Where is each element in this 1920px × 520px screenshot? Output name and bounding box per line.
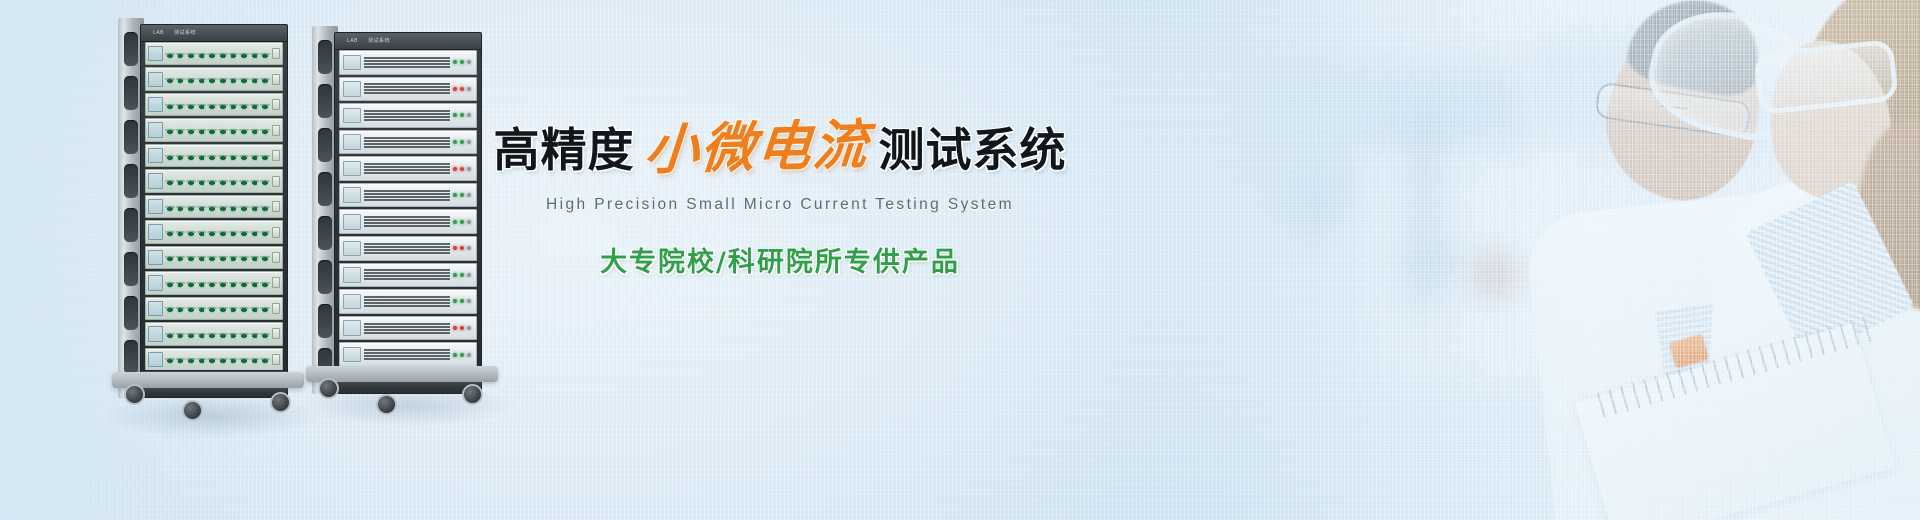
unit-channel xyxy=(197,307,207,309)
rack-caster xyxy=(376,394,397,415)
unit-channel xyxy=(218,78,228,80)
unit-channel xyxy=(250,206,260,208)
unit-slot xyxy=(364,143,450,145)
unit-slots xyxy=(364,241,450,255)
unit-display xyxy=(343,134,361,150)
unit-led-icon xyxy=(460,113,464,117)
unit-slot xyxy=(364,83,450,85)
unit-channels xyxy=(165,53,270,55)
unit-channel xyxy=(250,358,260,360)
unit-slot xyxy=(364,172,450,174)
unit-channel xyxy=(260,282,270,284)
unit-led-icon xyxy=(460,140,464,144)
unit-led-icon xyxy=(467,353,471,357)
unit-led-icon xyxy=(453,87,457,91)
unit-slots xyxy=(364,294,450,308)
unit-slot xyxy=(364,302,450,304)
unit-channels xyxy=(165,231,270,233)
unit-channel xyxy=(239,307,249,309)
unit-channel xyxy=(197,129,207,131)
rack-unit xyxy=(339,183,477,208)
unit-button xyxy=(272,252,280,263)
unit-display xyxy=(148,72,163,87)
rack-post-slot xyxy=(124,252,138,286)
rack-unit xyxy=(339,342,477,367)
unit-channel xyxy=(186,129,196,131)
unit-display xyxy=(148,250,163,265)
unit-slots xyxy=(364,268,450,282)
unit-channel xyxy=(176,358,186,360)
unit-channel xyxy=(229,282,239,284)
unit-display xyxy=(343,267,361,283)
unit-channel xyxy=(260,78,270,80)
unit-slot xyxy=(364,355,450,357)
unit-display xyxy=(148,326,163,341)
rack-unit xyxy=(145,42,283,65)
unit-led-icon xyxy=(467,273,471,277)
equipment-rack-white: LAB 测试系统 xyxy=(312,26,482,394)
rack-post-slot xyxy=(318,172,332,206)
unit-channel xyxy=(207,180,217,182)
unit-channel xyxy=(176,104,186,106)
rack-unit xyxy=(339,236,477,261)
rack-unit-list xyxy=(145,42,283,371)
unit-display xyxy=(148,199,163,214)
unit-indicator-group xyxy=(453,167,473,171)
unit-led-icon xyxy=(460,167,464,171)
rack-post-slot xyxy=(124,76,138,110)
headline-suffix: 测试系统 xyxy=(879,127,1067,173)
unit-channel xyxy=(186,155,196,157)
unit-channel xyxy=(165,333,175,335)
unit-slot xyxy=(364,89,450,91)
unit-channel xyxy=(250,231,260,233)
unit-led-icon xyxy=(460,87,464,91)
unit-button xyxy=(272,227,280,238)
unit-channel xyxy=(250,78,260,80)
unit-slot xyxy=(364,163,450,165)
unit-channel xyxy=(218,206,228,208)
unit-display xyxy=(343,214,361,230)
unit-slot xyxy=(364,113,450,115)
unit-channel xyxy=(229,129,239,131)
rack-unit xyxy=(339,316,477,341)
unit-slot xyxy=(364,66,450,68)
unit-channel xyxy=(197,358,207,360)
unit-channel xyxy=(207,256,217,258)
unit-channel xyxy=(260,307,270,309)
unit-channels xyxy=(165,307,270,309)
unit-led-icon xyxy=(467,220,471,224)
unit-channel xyxy=(197,206,207,208)
unit-display xyxy=(343,294,361,310)
unit-channel xyxy=(197,180,207,182)
unit-led-icon xyxy=(453,140,457,144)
unit-channel xyxy=(250,307,260,309)
unit-channel xyxy=(229,256,239,258)
unit-channel xyxy=(260,129,270,131)
unit-channel xyxy=(250,104,260,106)
unit-channel xyxy=(229,307,239,309)
unit-channel xyxy=(197,282,207,284)
unit-led-icon xyxy=(453,273,457,277)
rack-brand-right: 测试系统 xyxy=(174,31,196,36)
unit-channel xyxy=(186,206,196,208)
unit-channel xyxy=(197,333,207,335)
rack-caster xyxy=(124,384,145,405)
unit-led-icon xyxy=(467,60,471,64)
unit-button xyxy=(272,150,280,161)
unit-button xyxy=(272,354,280,365)
unit-channel xyxy=(165,78,175,80)
unit-button xyxy=(272,125,280,136)
rack-unit xyxy=(145,220,283,243)
unit-channel xyxy=(218,282,228,284)
unit-slot xyxy=(364,249,450,251)
rack-unit xyxy=(339,156,477,181)
unit-slot xyxy=(364,246,450,248)
unit-channel xyxy=(165,129,175,131)
unit-display xyxy=(148,97,163,112)
equipment-rack-green: LAB 测试系统 xyxy=(118,18,288,398)
unit-display xyxy=(343,81,361,97)
unit-channel xyxy=(197,53,207,55)
unit-slot xyxy=(364,140,450,142)
unit-channel xyxy=(165,180,175,182)
unit-led-icon xyxy=(467,140,471,144)
unit-channel xyxy=(260,155,270,157)
unit-slot xyxy=(364,358,450,360)
unit-slot xyxy=(364,326,450,328)
unit-channel xyxy=(165,155,175,157)
unit-channel xyxy=(239,256,249,258)
unit-slot xyxy=(364,225,450,227)
unit-slot xyxy=(364,349,450,351)
unit-channels xyxy=(165,78,270,80)
photo-texture xyxy=(1110,0,1920,520)
unit-channel xyxy=(260,231,270,233)
unit-button xyxy=(272,303,280,314)
unit-led-icon xyxy=(460,246,464,250)
unit-slot xyxy=(364,169,450,171)
unit-led-icon xyxy=(453,60,457,64)
unit-channel xyxy=(176,282,186,284)
unit-button xyxy=(272,74,280,85)
unit-channel xyxy=(239,282,249,284)
unit-slot xyxy=(364,63,450,65)
unit-slots xyxy=(364,161,450,175)
unit-slot xyxy=(364,252,450,254)
unit-channel xyxy=(229,231,239,233)
unit-channels xyxy=(165,104,270,106)
unit-led-icon xyxy=(460,353,464,357)
unit-channel xyxy=(176,78,186,80)
unit-button xyxy=(272,277,280,288)
unit-channel xyxy=(207,78,217,80)
unit-display xyxy=(148,46,163,61)
unit-button xyxy=(272,201,280,212)
unit-slot xyxy=(364,92,450,94)
unit-led-icon xyxy=(467,299,471,303)
unit-channel xyxy=(207,53,217,55)
unit-channel xyxy=(165,231,175,233)
rack-caster xyxy=(270,392,291,413)
unit-channel xyxy=(207,282,217,284)
unit-channel xyxy=(207,358,217,360)
unit-channels xyxy=(165,282,270,284)
unit-slots xyxy=(364,215,450,229)
unit-channel xyxy=(186,78,196,80)
unit-led-icon xyxy=(467,193,471,197)
rack-post-slot xyxy=(124,164,138,198)
headline-highlight: 小微电流 xyxy=(638,117,875,177)
unit-display xyxy=(343,108,361,124)
rack-unit xyxy=(339,130,477,155)
rack-unit xyxy=(339,50,477,75)
unit-channel xyxy=(207,104,217,106)
unit-slot xyxy=(364,352,450,354)
unit-channel xyxy=(260,333,270,335)
unit-channel xyxy=(250,282,260,284)
unit-channel xyxy=(176,180,186,182)
unit-channel xyxy=(207,231,217,233)
unit-channel xyxy=(239,333,249,335)
rack-unit xyxy=(339,209,477,234)
unit-slots xyxy=(364,347,450,361)
unit-channel xyxy=(207,206,217,208)
unit-slot xyxy=(364,190,450,192)
unit-led-icon xyxy=(460,220,464,224)
unit-channel xyxy=(250,256,260,258)
headline: 高精度 小微电流 测试系统 xyxy=(520,120,1040,174)
unit-channel xyxy=(218,256,228,258)
unit-slot xyxy=(364,299,450,301)
unit-indicator-group xyxy=(453,140,473,144)
unit-slot xyxy=(364,116,450,118)
unit-channel xyxy=(176,256,186,258)
rack-post-slot xyxy=(124,296,138,330)
rack-brand-left: LAB xyxy=(347,39,358,44)
unit-channel xyxy=(176,129,186,131)
rack-post-slot xyxy=(124,120,138,154)
rack-unit xyxy=(339,103,477,128)
unit-channel xyxy=(218,231,228,233)
unit-button xyxy=(272,48,280,59)
unit-display xyxy=(148,173,163,188)
unit-led-icon xyxy=(460,193,464,197)
unit-channel xyxy=(176,155,186,157)
rack-unit xyxy=(145,348,283,371)
rack-brand-left: LAB xyxy=(153,31,164,36)
unit-slot xyxy=(364,86,450,88)
unit-display xyxy=(343,241,361,257)
unit-indicator-group xyxy=(453,273,473,277)
unit-slots xyxy=(364,188,450,202)
unit-slot xyxy=(364,278,450,280)
unit-channel xyxy=(176,53,186,55)
unit-channel xyxy=(197,155,207,157)
unit-channel xyxy=(250,155,260,157)
unit-channel xyxy=(186,333,196,335)
headline-prefix: 高精度 xyxy=(494,127,635,173)
unit-slot xyxy=(364,146,450,148)
unit-indicator-group xyxy=(453,87,473,91)
rack-unit xyxy=(145,322,283,345)
unit-channel xyxy=(207,333,217,335)
unit-channel xyxy=(186,104,196,106)
unit-channel xyxy=(165,256,175,258)
subtitle-english: High Precision Small Micro Current Testi… xyxy=(520,196,1040,214)
unit-slot xyxy=(364,296,450,298)
unit-button xyxy=(272,99,280,110)
unit-channels xyxy=(165,206,270,208)
unit-slot xyxy=(364,269,450,271)
rack-unit xyxy=(145,169,283,192)
unit-channel xyxy=(239,104,249,106)
unit-slots xyxy=(364,55,450,69)
unit-slot xyxy=(364,332,450,334)
unit-channel xyxy=(229,78,239,80)
unit-channel xyxy=(165,282,175,284)
unit-display xyxy=(148,301,163,316)
unit-channel xyxy=(197,78,207,80)
unit-display xyxy=(148,352,163,367)
unit-channel xyxy=(197,231,207,233)
unit-indicator-group xyxy=(453,113,473,117)
unit-channels xyxy=(165,333,270,335)
unit-led-icon xyxy=(453,299,457,303)
unit-channel xyxy=(250,333,260,335)
unit-channel xyxy=(260,53,270,55)
rack-post-slot xyxy=(318,40,332,74)
unit-channel xyxy=(218,307,228,309)
unit-channel xyxy=(239,231,249,233)
unit-display xyxy=(148,122,163,137)
unit-display xyxy=(343,187,361,203)
unit-led-icon xyxy=(453,167,457,171)
unit-channel xyxy=(186,282,196,284)
unit-channel xyxy=(186,180,196,182)
rack-post-slot xyxy=(318,216,332,250)
unit-channel xyxy=(250,180,260,182)
unit-slot xyxy=(364,57,450,59)
unit-channel xyxy=(239,155,249,157)
unit-display xyxy=(148,275,163,290)
unit-channel xyxy=(218,180,228,182)
rack-post-slot xyxy=(124,32,138,66)
unit-slot xyxy=(364,199,450,201)
unit-led-icon xyxy=(460,326,464,330)
unit-channel xyxy=(207,307,217,309)
rack-post-slot xyxy=(318,128,332,162)
unit-slot xyxy=(364,196,450,198)
unit-slot xyxy=(364,305,450,307)
unit-channel xyxy=(176,307,186,309)
unit-channel xyxy=(197,104,207,106)
rack-unit xyxy=(145,246,283,269)
unit-channel xyxy=(239,78,249,80)
unit-channel xyxy=(229,180,239,182)
lab-photo xyxy=(1110,0,1920,520)
unit-channels xyxy=(165,358,270,360)
rack-post-slot xyxy=(318,84,332,118)
unit-channel xyxy=(218,333,228,335)
unit-display xyxy=(343,347,361,363)
unit-channel xyxy=(229,333,239,335)
rack-post-slot xyxy=(124,340,138,374)
unit-channel xyxy=(239,180,249,182)
unit-channel xyxy=(239,53,249,55)
unit-channel xyxy=(186,53,196,55)
banner-copy: 高精度 小微电流 测试系统 High Precision Small Micro… xyxy=(520,120,1040,279)
unit-channel xyxy=(239,206,249,208)
rack-post-slot xyxy=(318,260,332,294)
unit-channel xyxy=(176,333,186,335)
unit-slot xyxy=(364,166,450,168)
unit-slot xyxy=(364,243,450,245)
unit-slot xyxy=(364,110,450,112)
unit-indicator-group xyxy=(453,299,473,303)
unit-button xyxy=(272,328,280,339)
unit-channels xyxy=(165,155,270,157)
unit-channel xyxy=(260,206,270,208)
unit-display xyxy=(343,320,361,336)
unit-channel xyxy=(218,358,228,360)
unit-channel xyxy=(260,104,270,106)
unit-slots xyxy=(364,135,450,149)
unit-led-icon xyxy=(460,60,464,64)
unit-led-icon xyxy=(467,326,471,330)
unit-slot xyxy=(364,119,450,121)
rack-header: LAB 测试系统 xyxy=(141,25,287,42)
rack-cabinet: LAB 测试系统 xyxy=(334,32,482,394)
unit-channel xyxy=(176,206,186,208)
rack-unit xyxy=(145,144,283,167)
unit-channel xyxy=(239,129,249,131)
rack-unit xyxy=(145,297,283,320)
rack-post-slot xyxy=(318,304,332,338)
unit-channel xyxy=(239,358,249,360)
unit-indicator-group xyxy=(453,193,473,197)
unit-indicator-group xyxy=(453,60,473,64)
unit-button xyxy=(272,176,280,187)
unit-slot xyxy=(364,216,450,218)
rack-unit xyxy=(145,271,283,294)
rack-unit-list xyxy=(339,50,477,367)
rack-cabinet: LAB 测试系统 xyxy=(140,24,288,398)
unit-channel xyxy=(229,155,239,157)
unit-channels xyxy=(165,129,270,131)
hero-banner: LAB 测试系统 LAB 测试系统 xyxy=(0,0,1920,520)
rack-unit xyxy=(145,67,283,90)
unit-channel xyxy=(207,129,217,131)
unit-slot xyxy=(364,323,450,325)
unit-channels xyxy=(165,180,270,182)
unit-channel xyxy=(186,256,196,258)
unit-led-icon xyxy=(453,326,457,330)
unit-indicator-group xyxy=(453,353,473,357)
unit-led-icon xyxy=(467,246,471,250)
unit-led-icon xyxy=(467,87,471,91)
unit-channel xyxy=(186,358,196,360)
unit-channel xyxy=(165,53,175,55)
rack-caster xyxy=(182,400,203,421)
unit-slot xyxy=(364,219,450,221)
rack-unit xyxy=(145,93,283,116)
unit-slot xyxy=(364,193,450,195)
rack-unit xyxy=(145,118,283,141)
unit-led-icon xyxy=(453,193,457,197)
